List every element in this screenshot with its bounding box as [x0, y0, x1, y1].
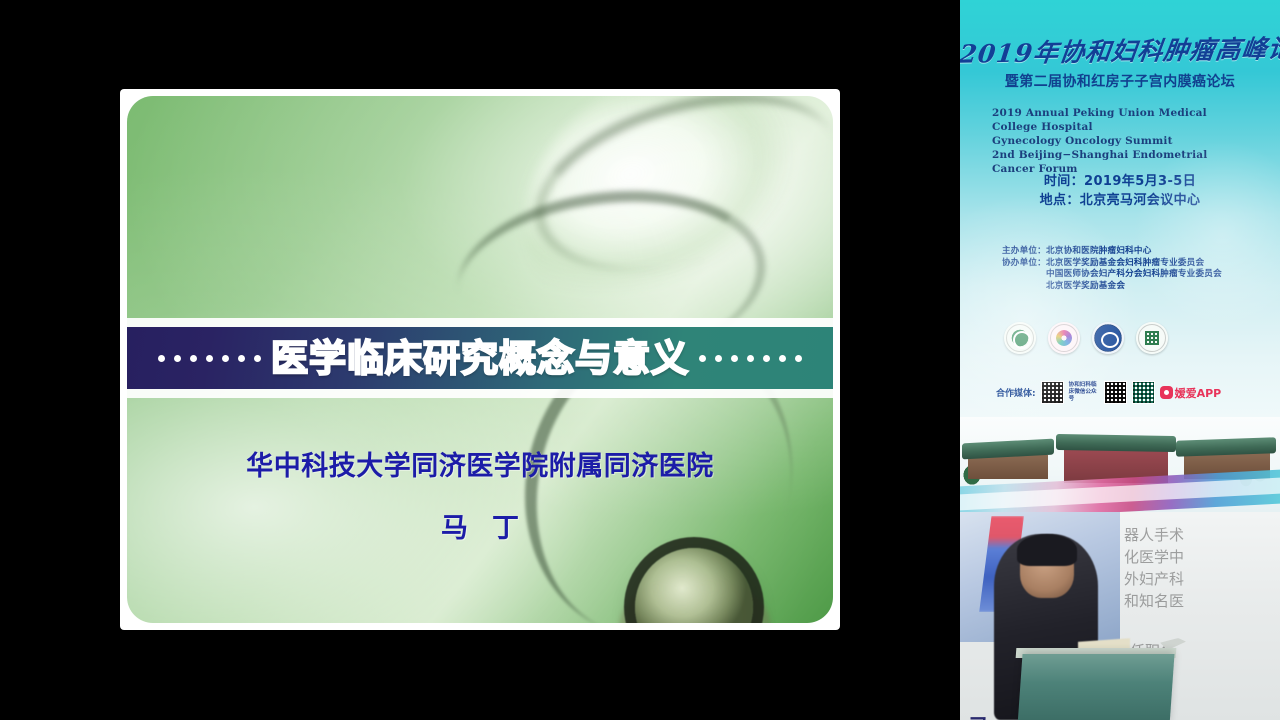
slide-title: 医学临床研究概念与意义	[265, 340, 695, 377]
poster-subtitle-cn: 暨第二届协和红房子子宫内膜癌论坛	[960, 71, 1280, 91]
slide-canvas: 医学临床研究概念与意义 华中科技大学同济医学院附属同济医院 马丁	[127, 96, 833, 623]
bg-slide-line-3: 外妇产科	[1124, 568, 1274, 590]
video-speaker-hair	[1017, 534, 1077, 566]
qr-code-caption: 协和妇科临床微信公众号	[1069, 382, 1099, 403]
poster-media-partners: 合作媒体: 协和妇科临床微信公众号 嫒爱APP	[996, 381, 1221, 404]
dot-leader-right	[695, 355, 806, 362]
slide-frame: 医学临床研究概念与意义 华中科技大学同济医学院附属同济医院 马丁	[120, 89, 840, 630]
venue-building-1-body	[968, 455, 1048, 479]
poster-host-label: 主办单位：	[1002, 246, 1046, 258]
bg-slide-line-4: 和知名医	[1124, 590, 1274, 612]
poster-when: 时间：2019年5月3-5日	[960, 172, 1280, 191]
media-partners-label: 合作媒体:	[996, 386, 1036, 399]
poster-cohost-list: 北京医学奖励基金会妇科肿瘤专业委员会 中国医师协会妇产科分会妇科肿瘤专业委员会 …	[1046, 258, 1222, 293]
poster-english-line-1: 2019 Annual Peking Union Medical College…	[992, 106, 1252, 134]
dot-leader-left	[154, 355, 265, 362]
poster-cohost-3: 北京医学奖励基金会	[1046, 281, 1222, 293]
presentation-slide-area: 医学临床研究概念与意义 华中科技大学同济医学院附属同济医院 马丁	[0, 0, 960, 720]
slide-title-banner: 医学临床研究概念与意义	[127, 327, 833, 389]
logo-cmda-obgyn-icon	[1092, 322, 1124, 354]
qr-code-icon-3	[1132, 381, 1155, 404]
bg-slide-line-1: 器人手术	[1124, 524, 1274, 546]
qr-code-icon-1	[1041, 381, 1064, 404]
poster-english-block: 2019 Annual Peking Union Medical College…	[992, 106, 1252, 176]
video-podium: 2019年协和妇科肿瘤高峰论坛 暨第二届协和红房子子宫内膜癌论坛	[1017, 654, 1174, 720]
live-speaker-video[interactable]: 器人手术 化医学中 外妇产科 和知名医 任职： 中国 马 2019年协和妇科肿瘤…	[960, 512, 1280, 720]
poster-cohost-2: 中国医师协会妇产科分会妇科肿瘤专业委员会	[1046, 269, 1222, 281]
app-logo-icon	[1160, 386, 1173, 399]
app-name: 嫒爱APP	[1175, 385, 1222, 401]
poster-host-value: 北京协和医院肿瘤妇科中心	[1046, 246, 1152, 258]
poster-english-line-2: Gynecology Oncology Summit	[992, 134, 1252, 148]
poster-cohost-row: 协办单位： 北京医学奖励基金会妇科肿瘤专业委员会 中国医师协会妇产科分会妇科肿瘤…	[1002, 258, 1280, 293]
qr-code-icon-2	[1104, 381, 1127, 404]
conference-poster: 2019年协和妇科肿瘤高峰论坛 暨第二届协和红房子子宫内膜癌论坛 2019 An…	[960, 0, 1280, 512]
bg-slide-line-2: 化医学中	[1124, 546, 1274, 568]
poster-venue-photo	[960, 417, 1280, 512]
poster-cohost-1: 北京医学奖励基金会妇科肿瘤专业委员会	[1046, 258, 1222, 270]
logo-beijing-medical-award-foundation-icon	[1048, 322, 1080, 354]
slide-speaker-name: 马丁	[127, 506, 833, 545]
poster-host-row: 主办单位： 北京协和医院肿瘤妇科中心	[1002, 246, 1280, 258]
video-speaker-name-overlay: 马	[968, 710, 990, 720]
venue-building-2-roof	[1056, 434, 1176, 452]
logo-pumch-gyn-oncology-icon	[1004, 322, 1036, 354]
banner-divider-top	[127, 318, 833, 327]
poster-title-cn: 2019年协和妇科肿瘤高峰论坛	[960, 29, 1280, 71]
slide-affiliation: 华中科技大学同济医学院附属同济医院	[127, 444, 833, 483]
logo-medical-association-icon	[1136, 322, 1168, 354]
poster-logo-row	[1004, 322, 1184, 354]
poster-organizers: 主办单位： 北京协和医院肿瘤妇科中心 协办单位： 北京医学奖励基金会妇科肿瘤专业…	[1002, 246, 1280, 292]
banner-divider-bottom	[127, 389, 833, 398]
poster-datetime-block: 时间：2019年5月3-5日 地点：北京亮马河会议中心	[960, 172, 1280, 210]
video-background-slide-text: 器人手术 化医学中 外妇产科 和知名医	[1124, 524, 1274, 612]
right-panel: 2019年协和妇科肿瘤高峰论坛 暨第二届协和红房子子宫内膜癌论坛 2019 An…	[960, 0, 1280, 720]
app-badge: 嫒爱APP	[1160, 385, 1222, 401]
screen: 医学临床研究概念与意义 华中科技大学同济医学院附属同济医院 马丁 2019年协和…	[0, 0, 1280, 720]
poster-cohost-label: 协办单位：	[1002, 258, 1046, 293]
poster-where: 地点：北京亮马河会议中心	[960, 191, 1280, 210]
